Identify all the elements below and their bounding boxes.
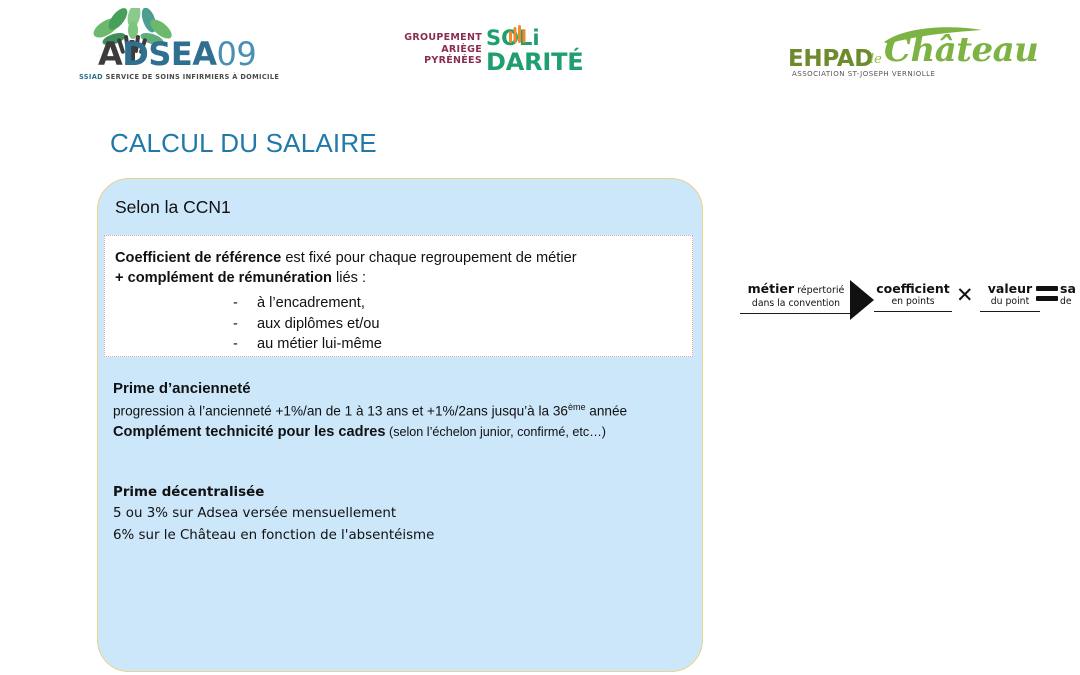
seniority-desc-pre: progression à l’ancienneté +1%/an de 1 à… [113, 404, 568, 419]
list-item: -aux diplômes et/ou [233, 314, 382, 335]
groupement-line-3: PYRÉNÉES [396, 55, 482, 67]
groupement-line-1: GROUPEMENT [396, 32, 482, 44]
formula-coefficient-sub: en points [874, 296, 952, 308]
ehpad-subtitle: ASSOCIATION ST-JOSEPH VERNIOLLE [792, 70, 935, 78]
groupement-line-2: ARIÈGE [396, 44, 482, 56]
formula-valeur-sub: du point [980, 296, 1040, 308]
coefficient-line-2-rest: liés : [332, 270, 366, 286]
decentralized-line-1: 5 ou 3% sur Adsea versée mensuellement [113, 503, 673, 525]
page-title: CALCUL DU SALAIRE [110, 128, 377, 159]
seniority-bonus-title: Prime d’ancienneté [113, 379, 693, 398]
seniority-desc-superscript: ème [568, 402, 586, 412]
formula-coefficient-main: coefficient [874, 282, 952, 296]
solidarite-darite: DARITÉ [486, 50, 583, 74]
adsea-tagline-prefix: SSIAD [79, 73, 103, 81]
bullet-dash-icon: - [233, 293, 257, 314]
adsea-letter-a: A [98, 35, 122, 73]
formula-metier-sub: dans la convention [740, 298, 852, 310]
coefficient-line-2-bold: + complément de rémunération [115, 270, 332, 286]
bullet-dash-icon: - [233, 314, 257, 335]
orange-hand-icon [508, 25, 528, 47]
list-item-label: à l’encadrement, [257, 295, 365, 311]
solidarite-soli: SOLi [486, 28, 583, 49]
list-item-label: aux diplômes et/ou [257, 316, 380, 332]
decentralized-bonus-block: Prime décentralisée 5 ou 3% sur Adsea ve… [113, 482, 673, 546]
list-item: -au métier lui-même [233, 334, 382, 355]
multiply-icon: ✕ [956, 284, 974, 306]
technicity-label-2: pour les cadres [274, 424, 386, 440]
technicity-complement-line: Complément technicité pour les cadres (s… [113, 422, 693, 442]
formula-result-main: sa [1060, 282, 1080, 296]
solidarite-wordblock: SOLi DARITÉ [486, 28, 583, 74]
formula-metier-word: métier [748, 281, 794, 296]
list-item: -à l’encadrement, [233, 293, 382, 314]
formula-metier-main: métier répertorié [740, 282, 852, 298]
formula-coefficient-rule [874, 311, 952, 312]
technicity-label: Complément technicité [113, 424, 274, 440]
formula-valeur-rule [980, 311, 1040, 312]
coefficient-reference-box: Coefficient de référence est fixé pour c… [104, 235, 693, 357]
formula-term-coefficient: coefficient en points [874, 282, 952, 312]
right-triangle-icon [850, 280, 874, 320]
coefficient-bullet-list: -à l’encadrement, -aux diplômes et/ou -a… [233, 293, 382, 355]
seniority-bonus-description: progression à l’ancienneté +1%/an de 1 à… [113, 398, 693, 421]
adsea-tagline-text: SERVICE DE SOINS INFIRMIERS À DOMICILE [106, 73, 280, 81]
formula-term-valeur: valeur du point [980, 282, 1040, 312]
groupement-wordblock: GROUPEMENT ARIÈGE PYRÉNÉES [396, 32, 482, 67]
adsea-number-09: 09 [217, 35, 257, 73]
ehpad-le: le [870, 52, 882, 67]
formula-result-sub: de [1060, 296, 1080, 308]
technicity-note: (selon l’échelon junior, confirmé, etc…) [386, 425, 607, 439]
formula-valeur-main: valeur [980, 282, 1040, 296]
adsea-letters-dsea: DSEA [122, 35, 216, 73]
coefficient-line-1: Coefficient de référence est fixé pour c… [115, 249, 684, 269]
ehpad-word: EHPAD [788, 46, 873, 72]
seniority-bonus-block: Prime d’ancienneté progression à l’ancie… [113, 379, 693, 442]
ehpad-chateau-script: Château [884, 30, 1038, 70]
adsea-wordmark: ADSEA09 [98, 38, 256, 70]
decentralized-bonus-title: Prime décentralisée [113, 482, 673, 503]
logo-band: ADSEA09 SSIAD SERVICE DE SOINS INFIRMIER… [0, 0, 1080, 95]
formula-term-metier: métier répertorié dans la convention [740, 282, 852, 314]
coefficient-line-1-rest: est fixé pour chaque regroupement de mét… [281, 250, 576, 266]
ehpad-chateau-logo: EHPAD le Château ASSOCIATION ST-JOSEPH V… [788, 24, 1003, 82]
coefficient-text-block: Coefficient de référence est fixé pour c… [115, 249, 684, 288]
formula-metier-qualifier: répertorié [794, 285, 844, 296]
salary-calculation-panel: Selon la CCN1 Coefficient de référence e… [97, 178, 703, 672]
bullet-dash-icon: - [233, 334, 257, 355]
adsea-logo: ADSEA09 SSIAD SERVICE DE SOINS INFIRMIER… [76, 8, 326, 88]
decentralized-line-2: 6% sur le Château en fonction de l'absen… [113, 525, 673, 547]
formula-term-result: sa de [1060, 282, 1080, 308]
seniority-desc-post: année [585, 404, 627, 419]
equals-icon [1036, 286, 1058, 301]
adsea-tagline: SSIAD SERVICE DE SOINS INFIRMIERS À DOMI… [79, 73, 279, 81]
panel-heading: Selon la CCN1 [115, 197, 231, 218]
list-item-label: au métier lui-même [257, 336, 382, 352]
formula-metier-rule [740, 313, 852, 314]
coefficient-line-2: + complément de rémunération liés : [115, 269, 684, 289]
coefficient-line-1-bold: Coefficient de référence [115, 250, 281, 266]
groupement-solidarite-logo: GROUPEMENT ARIÈGE PYRÉNÉES SOLi DARITÉ [396, 28, 586, 78]
salary-formula-diagram: métier répertorié dans la convention coe… [740, 272, 1080, 330]
